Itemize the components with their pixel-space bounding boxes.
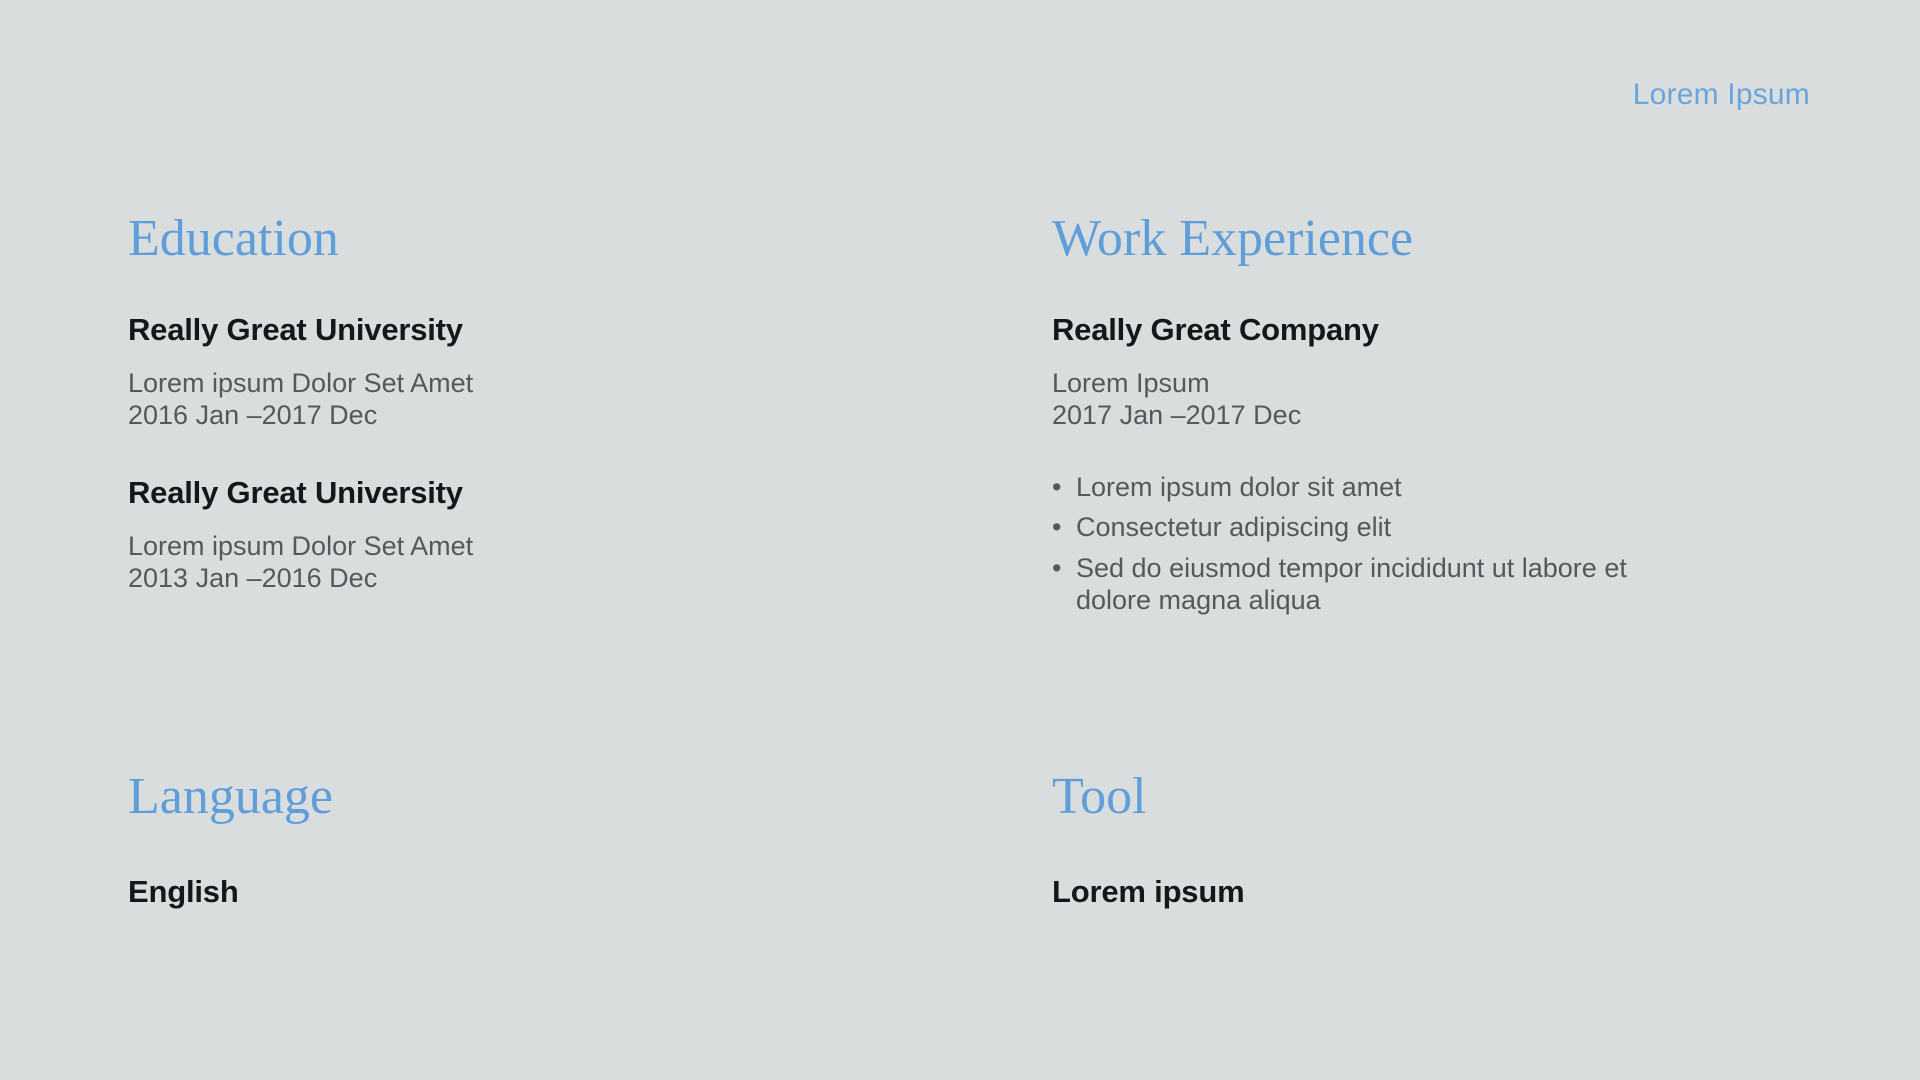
education-entry-title: Really Great University — [128, 474, 988, 511]
education-section: Education Really Great University Lorem … — [128, 212, 988, 594]
list-item-text: Consectetur adipiscing elit — [1076, 512, 1391, 542]
education-entry-subtitle: Lorem ipsum Dolor Set Amet — [128, 368, 988, 400]
language-heading: Language — [128, 770, 988, 825]
education-entry-meta: Lorem ipsum Dolor Set Amet 2013 Jan –201… — [128, 531, 988, 595]
work-experience-entry: Really Great Company Lorem Ipsum 2017 Ja… — [1052, 311, 1912, 432]
language-value: English — [128, 873, 988, 910]
education-heading: Education — [128, 212, 988, 267]
list-item: • Sed do eiusmod tempor incididunt ut la… — [1052, 553, 1696, 617]
work-experience-entry-meta: Lorem Ipsum 2017 Jan –2017 Dec — [1052, 368, 1912, 432]
education-entry-dates: 2016 Jan –2017 Dec — [128, 400, 988, 432]
education-entry-title: Really Great University — [128, 311, 988, 348]
work-experience-entry-subtitle: Lorem Ipsum — [1052, 368, 1912, 400]
tool-section: Tool Lorem ipsum — [1052, 770, 1912, 910]
education-entry-dates: 2013 Jan –2016 Dec — [128, 563, 988, 595]
list-item-text: Lorem ipsum dolor sit amet — [1076, 472, 1402, 502]
education-entry: Really Great University Lorem ipsum Dolo… — [128, 311, 988, 432]
work-experience-entry-title: Really Great Company — [1052, 311, 1912, 348]
list-item: • Lorem ipsum dolor sit amet — [1052, 472, 1696, 504]
two-column-layout: Education Really Great University Lorem … — [0, 0, 1920, 1080]
bullet-dot-icon: • — [1052, 553, 1061, 585]
education-entry: Really Great University Lorem ipsum Dolo… — [128, 474, 988, 595]
work-experience-section: Work Experience Really Great Company Lor… — [1052, 212, 1912, 626]
list-item-text: Sed do eiusmod tempor incididunt ut labo… — [1076, 553, 1627, 615]
work-experience-heading: Work Experience — [1052, 212, 1912, 267]
education-entry-subtitle: Lorem ipsum Dolor Set Amet — [128, 531, 988, 563]
bullet-dot-icon: • — [1052, 512, 1061, 544]
bullet-dot-icon: • — [1052, 472, 1061, 504]
work-experience-entry-dates: 2017 Jan –2017 Dec — [1052, 400, 1912, 432]
tool-value: Lorem ipsum — [1052, 873, 1912, 910]
work-experience-bullet-list: • Lorem ipsum dolor sit amet • Consectet… — [1052, 472, 1912, 617]
resume-slide: Lorem Ipsum Education Really Great Unive… — [0, 0, 1920, 1080]
tool-heading: Tool — [1052, 770, 1912, 825]
list-item: • Consectetur adipiscing elit — [1052, 512, 1696, 544]
language-section: Language English — [128, 770, 988, 910]
education-entry-meta: Lorem ipsum Dolor Set Amet 2016 Jan –201… — [128, 368, 988, 432]
